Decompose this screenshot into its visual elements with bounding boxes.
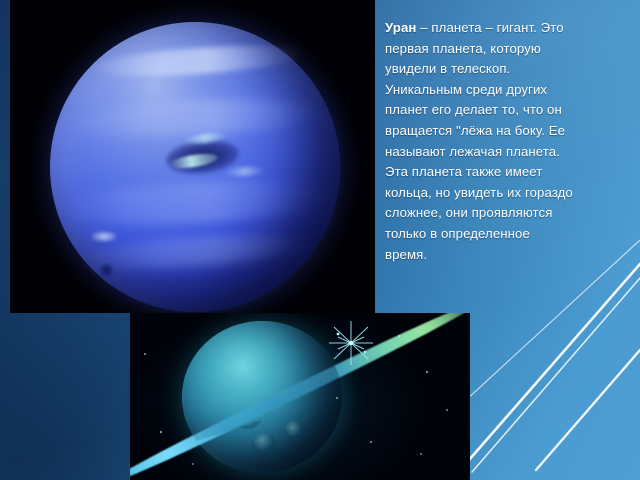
small-dark-spot bbox=[99, 263, 114, 278]
cloud-band bbox=[90, 41, 306, 82]
bright-cloud-streak bbox=[224, 166, 265, 177]
gas-giant-sphere bbox=[50, 22, 340, 312]
star bbox=[192, 463, 194, 465]
crater bbox=[284, 421, 303, 438]
bright-cloud-patch bbox=[91, 231, 117, 243]
star bbox=[446, 409, 448, 411]
body-text-rest: – планета – гигант. Это первая планета, … bbox=[385, 20, 573, 262]
lead-word: Уран bbox=[385, 20, 416, 35]
star bbox=[420, 453, 422, 455]
star bbox=[336, 397, 338, 399]
star bbox=[160, 431, 162, 433]
crater bbox=[252, 433, 276, 451]
star bbox=[370, 441, 372, 443]
blue-gas-giant-photo bbox=[10, 0, 375, 313]
star bbox=[398, 335, 400, 337]
slide-body-text: Уран – планета – гигант. Это первая план… bbox=[385, 18, 573, 265]
ringed-planet-illustration bbox=[130, 313, 470, 480]
presentation-slide: Уран – планета – гигант. Это первая план… bbox=[0, 0, 640, 480]
star bbox=[144, 353, 146, 355]
star bbox=[426, 371, 428, 373]
cloud-band bbox=[61, 175, 330, 230]
